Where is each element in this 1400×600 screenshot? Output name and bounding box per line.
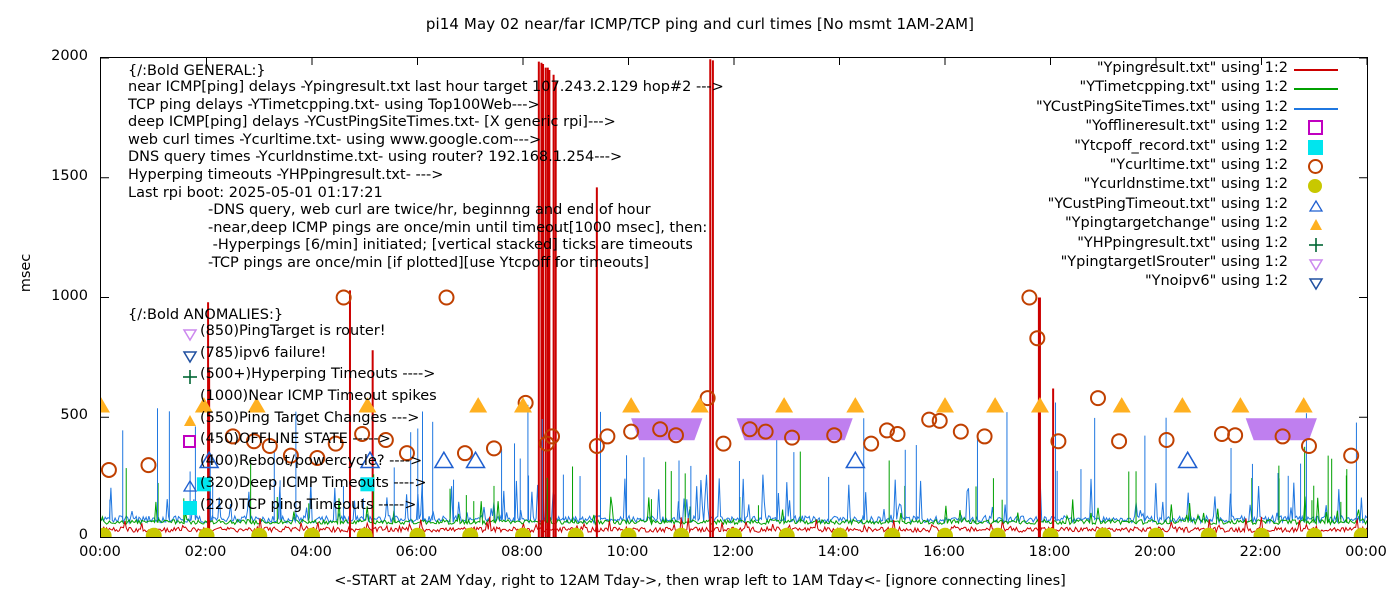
general-indented-line: -Hyperpings [6/min] initiated; [vertical… xyxy=(208,237,724,255)
curl-time-marker xyxy=(978,429,992,443)
triangle-open-blue-icon xyxy=(182,478,198,494)
triangle-down-blue-icon xyxy=(182,348,198,364)
ping-target-change-marker xyxy=(622,397,640,412)
curl-time-marker xyxy=(1112,434,1126,448)
legend-item[interactable]: "Ynoipv6" using 1:2 xyxy=(940,273,1340,292)
x-tick-label: 20:00 xyxy=(1110,544,1200,560)
legend-label: "YHPpingresult.txt" using 1:2 xyxy=(1077,235,1288,251)
y-tick-label: 1000 xyxy=(12,288,88,304)
anomaly-row: (220)TCP ping Timeouts -----> xyxy=(208,497,283,519)
legend-label: "Ycurltime.txt" using 1:2 xyxy=(1110,157,1288,173)
ping-target-change-marker xyxy=(936,397,954,412)
legend-item[interactable]: "YpingtargetISrouter" using 1:2 xyxy=(940,254,1340,273)
anomaly-row: (1000)Near ICMP Timeout spikes xyxy=(208,388,283,410)
curl-time-marker xyxy=(600,429,614,443)
legend-item[interactable]: "YHPpingresult.txt" using 1:2 xyxy=(940,235,1340,254)
general-line: near ICMP[ping] delays -Ypingresult.txt … xyxy=(128,79,724,97)
legend-item[interactable]: "YCustPingTimeout.txt" using 1:2 xyxy=(940,196,1340,215)
legend-label: "Ypingresult.txt" using 1:2 xyxy=(1097,60,1288,76)
triangle-down-icon xyxy=(1308,275,1324,291)
dns-time-marker xyxy=(251,528,267,537)
x-tick-label: 00:00 xyxy=(55,544,145,560)
dns-time-marker xyxy=(621,528,637,537)
legend-key xyxy=(1292,176,1340,195)
legend-label: "Ypingtargetchange" using 1:2 xyxy=(1065,215,1288,231)
circle-filled-icon xyxy=(1308,179,1322,193)
dns-time-marker xyxy=(1095,528,1111,537)
legend-label: "YpingtargetISrouter" using 1:2 xyxy=(1061,254,1288,270)
ping-target-change-marker xyxy=(1173,397,1191,412)
ping-target-change-marker xyxy=(986,397,1004,412)
legend-key xyxy=(1292,273,1340,292)
curl-time-marker xyxy=(440,291,454,305)
x-tick-label: 12:00 xyxy=(688,544,778,560)
curl-time-marker xyxy=(1302,439,1316,453)
legend-item[interactable]: "Ytcpoff_record.txt" using 1:2 xyxy=(940,138,1340,157)
anomaly-label: (1000)Near ICMP Timeout spikes xyxy=(200,388,437,406)
legend-label: "YCustPingTimeout.txt" using 1:2 xyxy=(1048,196,1288,212)
circle-open-icon xyxy=(1308,159,1323,174)
legend-item[interactable]: "Ycurltime.txt" using 1:2 xyxy=(940,157,1340,176)
legend-marker xyxy=(1308,217,1323,232)
legend-key xyxy=(1292,215,1340,234)
dns-time-marker xyxy=(199,528,215,537)
x-tick-label: 16:00 xyxy=(899,544,989,560)
chart-legend: "Ypingresult.txt" using 1:2"YTimetcpping… xyxy=(940,60,1340,293)
legend-label: "YTimetcpping.txt" using 1:2 xyxy=(1080,79,1288,95)
dns-time-marker xyxy=(1201,528,1217,537)
dns-time-marker xyxy=(1148,528,1164,537)
legend-item[interactable]: "YTimetcpping.txt" using 1:2 xyxy=(940,79,1340,98)
ping-target-change-marker xyxy=(101,397,110,412)
anomaly-row: (450)OFFLINE STATE -----> xyxy=(208,431,283,453)
anomaly-row: (500+)Hyperping Timeouts ----> xyxy=(208,366,283,388)
legend-label: "Yofflineresult.txt" using 1:2 xyxy=(1085,118,1288,134)
curl-time-marker xyxy=(716,437,730,451)
legend-key xyxy=(1292,99,1340,118)
legend-line-swatch xyxy=(1294,69,1338,71)
general-indented-line: -near,deep ICMP pings are once/min until… xyxy=(208,220,724,238)
anomaly-label: (220)TCP ping Timeouts -----> xyxy=(200,497,416,515)
ping-target-change-marker xyxy=(775,397,793,412)
anomaly-label: (550)Ping Target Changes ---> xyxy=(200,410,419,428)
dns-time-marker xyxy=(462,528,478,537)
legend-key xyxy=(1292,138,1340,157)
anomalies-heading: {/:Bold ANOMALIES:} xyxy=(128,307,283,323)
legend-key xyxy=(1292,157,1340,176)
legend-item[interactable]: "Yofflineresult.txt" using 1:2 xyxy=(940,118,1340,137)
general-indented-line: -TCP pings are once/min [if plotted][use… xyxy=(208,255,724,273)
curl-time-marker xyxy=(1030,331,1044,345)
x-tick-label: 14:00 xyxy=(794,544,884,560)
curl-time-marker xyxy=(1228,428,1242,442)
general-line: Last rpi boot: 2025-05-01 01:17:21 xyxy=(128,185,724,203)
x-tick-label: 04:00 xyxy=(266,544,356,560)
square-filled-cyan-icon xyxy=(182,500,198,516)
x-tick-label: 06:00 xyxy=(372,544,462,560)
legend-key xyxy=(1292,79,1340,98)
deep-icmp-timeout-marker xyxy=(846,452,864,467)
x-tick-label: 00:00 xyxy=(1321,544,1400,560)
curl-time-marker xyxy=(1091,391,1105,405)
anomaly-items: (850)PingTarget is router!(785)ipv6 fail… xyxy=(208,323,283,518)
general-annotation-block: {/:Bold GENERAL:} near ICMP[ping] delays… xyxy=(128,63,724,273)
legend-key xyxy=(1292,118,1340,137)
general-lines: near ICMP[ping] delays -Ypingresult.txt … xyxy=(128,79,724,202)
plus-icon xyxy=(1308,237,1324,253)
y-tick-label: 0 xyxy=(12,527,88,543)
legend-marker xyxy=(1308,256,1323,271)
ping-target-change-marker xyxy=(1231,397,1249,412)
anomaly-label: (320)Deep ICMP Timeouts ----> xyxy=(200,475,427,493)
legend-key xyxy=(1292,60,1340,79)
ping-target-change-marker xyxy=(846,397,864,412)
chart-title: pi14 May 02 near/far ICMP/TCP ping and c… xyxy=(0,15,1400,33)
x-tick-label: 10:00 xyxy=(583,544,673,560)
legend-key xyxy=(1292,196,1340,215)
general-heading: {/:Bold GENERAL:} xyxy=(128,63,724,79)
anomaly-label: (450)OFFLINE STATE -----> xyxy=(200,431,391,449)
general-indented-line: -DNS query, web curl are twice/hr, begin… xyxy=(208,202,724,220)
legend-item[interactable]: "Ycurldnstime.txt" using 1:2 xyxy=(940,176,1340,195)
anomaly-row: (320)Deep ICMP Timeouts ----> xyxy=(208,475,283,497)
legend-line-swatch xyxy=(1294,88,1338,90)
legend-label: "Ytcpoff_record.txt" using 1:2 xyxy=(1074,138,1288,154)
general-line: DNS query times -Ycurldnstime.txt- using… xyxy=(128,149,724,167)
legend-marker xyxy=(1308,198,1323,213)
legend-item[interactable]: "Ypingtargetchange" using 1:2 xyxy=(940,215,1340,234)
dns-time-marker xyxy=(1254,528,1270,537)
triangle-open-icon xyxy=(1308,198,1324,214)
general-line: web curl times -Ycurltime.txt- using www… xyxy=(128,132,724,150)
anomaly-label: (500+)Hyperping Timeouts ----> xyxy=(200,366,435,384)
curl-time-marker xyxy=(337,291,351,305)
x-tick-label: 22:00 xyxy=(1216,544,1306,560)
legend-key xyxy=(1292,254,1340,273)
anomaly-row: (400)Reboot/powercycle? ----> xyxy=(208,453,283,475)
dns-time-marker xyxy=(1354,528,1367,537)
y-tick-label: 500 xyxy=(12,407,88,423)
anomaly-row: (785)ipv6 failure! xyxy=(208,345,283,367)
curl-time-marker xyxy=(933,414,947,428)
legend-marker xyxy=(1308,237,1323,252)
triangle-filled-icon xyxy=(1308,217,1324,233)
legend-marker xyxy=(1308,275,1323,290)
chart-page: pi14 May 02 near/far ICMP/TCP ping and c… xyxy=(0,0,1400,600)
general-line: TCP ping delays -YTimetcpping.txt- using… xyxy=(128,97,724,115)
legend-item[interactable]: "Ypingresult.txt" using 1:2 xyxy=(940,60,1340,79)
anomaly-label: (785)ipv6 failure! xyxy=(200,345,326,363)
square-open-icon xyxy=(1308,120,1323,135)
anomalies-annotation-block: {/:Bold ANOMALIES:} (850)PingTarget is r… xyxy=(128,307,283,518)
square-open-magenta-icon xyxy=(182,434,198,450)
triangle-down-icon xyxy=(1308,256,1324,272)
curl-time-marker xyxy=(954,425,968,439)
dns-time-marker xyxy=(304,528,320,537)
deep-icmp-timeout-marker xyxy=(435,452,453,467)
x-tick-label: 02:00 xyxy=(161,544,251,560)
x-axis-caption: <-START at 2AM Yday, right to 12AM Tday-… xyxy=(0,573,1400,589)
ping-target-change-marker xyxy=(1295,397,1313,412)
general-line: deep ICMP[ping] delays -YCustPingSiteTim… xyxy=(128,114,724,132)
anomaly-label: (850)PingTarget is router! xyxy=(200,323,386,341)
legend-item[interactable]: "YCustPingSiteTimes.txt" using 1:2 xyxy=(940,99,1340,118)
y-tick-label: 1500 xyxy=(12,168,88,184)
legend-label: "Ycurldnstime.txt" using 1:2 xyxy=(1084,176,1288,192)
general-line: Hyperping timeouts -YHPpingresult.txt- -… xyxy=(128,167,724,185)
curl-time-marker xyxy=(864,437,878,451)
anomaly-row: (850)PingTarget is router! xyxy=(208,323,283,345)
ping-target-change-marker xyxy=(1113,397,1131,412)
deep-icmp-timeout-marker xyxy=(1179,452,1197,467)
curl-time-marker xyxy=(1215,427,1229,441)
general-indented-lines: -DNS query, web curl are twice/hr, begin… xyxy=(208,202,724,272)
curl-time-marker xyxy=(102,463,116,477)
legend-label: "YCustPingSiteTimes.txt" using 1:2 xyxy=(1036,99,1288,115)
x-tick-label: 18:00 xyxy=(1005,544,1095,560)
y-tick-label: 2000 xyxy=(12,48,88,64)
x-tick-label: 08:00 xyxy=(477,544,567,560)
anomaly-label: (400)Reboot/powercycle? ----> xyxy=(200,453,422,471)
curl-time-marker xyxy=(487,441,501,455)
ping-target-change-marker xyxy=(514,397,532,412)
anomaly-row: (550)Ping Target Changes ---> xyxy=(208,410,283,432)
ping-target-change-marker xyxy=(1031,397,1049,412)
square-filled-icon xyxy=(1308,140,1323,155)
legend-label: "Ynoipv6" using 1:2 xyxy=(1145,273,1288,289)
plus-green-icon xyxy=(182,369,198,385)
ping-target-change-marker xyxy=(469,397,487,412)
curl-time-marker xyxy=(458,446,472,460)
legend-line-swatch xyxy=(1294,108,1338,110)
triangle-filled-orange-icon xyxy=(182,413,198,429)
triangle-down-violet-icon xyxy=(182,326,198,342)
legend-key xyxy=(1292,235,1340,254)
